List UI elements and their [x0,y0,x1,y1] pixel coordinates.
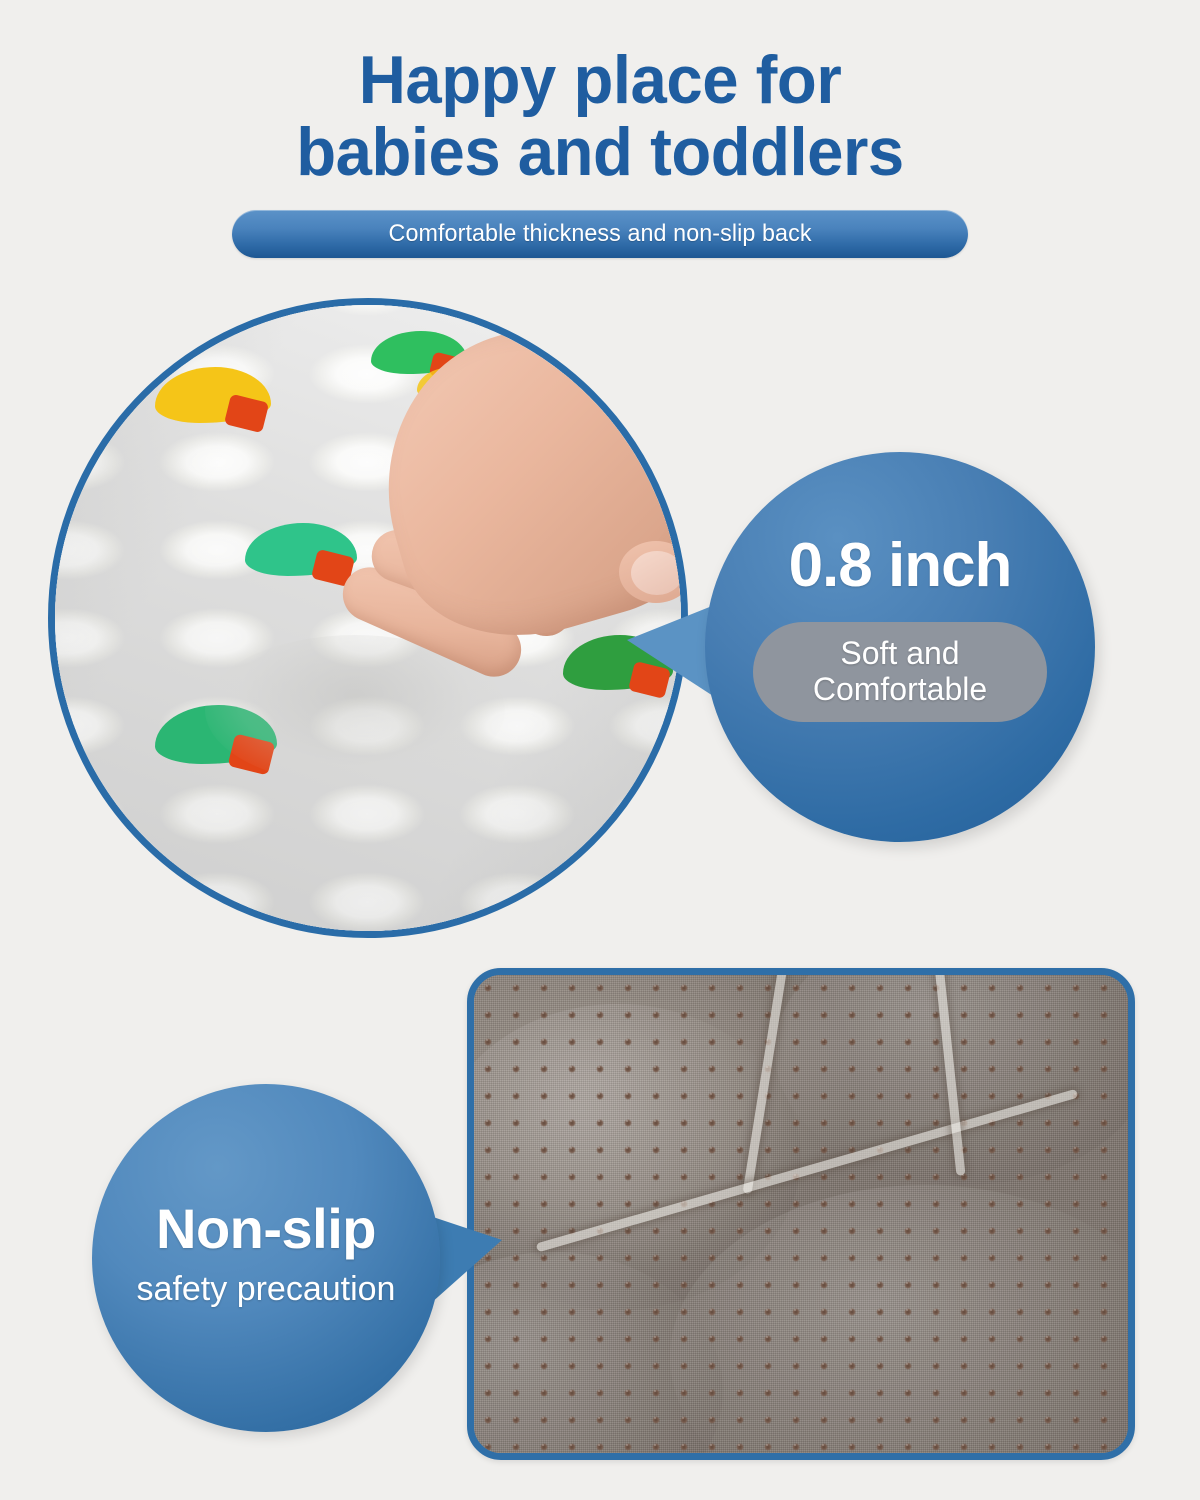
page-headline: Happy place for babies and toddlers [24,44,1176,188]
applique-tree-yellow [155,367,271,445]
subtitle-text: Comfortable thickness and non-slip back [388,220,811,248]
hand-pressing [331,327,688,797]
thickness-badge-line-2: Comfortable [813,672,987,708]
nonslip-title: Non-slip [92,1196,440,1261]
thickness-badge-line-1: Soft and [840,636,959,672]
headline-line-2: babies and toddlers [24,116,1176,188]
photo-nonslip-backing [467,968,1135,1460]
silicone-dots-highlight [467,968,1135,1460]
callout-nonslip: Non-slip safety precaution [92,1084,440,1432]
thickness-badge: Soft and Comfortable [753,622,1047,722]
nonslip-subtitle: safety precaution [92,1270,440,1309]
photo-mattress-top [48,298,688,938]
subtitle-banner: Comfortable thickness and non-slip back [232,210,968,258]
headline-line-1: Happy place for [24,44,1176,116]
callout-thickness: 0.8 inch Soft and Comfortable [705,452,1095,842]
thumb-nail [631,551,683,595]
infographic-page: Happy place for babies and toddlers Comf… [0,0,1200,1500]
thickness-value: 0.8 inch [705,530,1095,601]
